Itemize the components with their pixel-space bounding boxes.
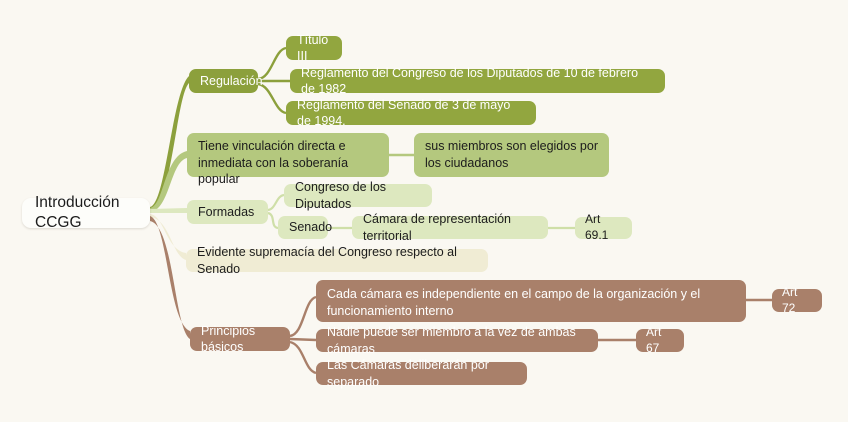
node-root-label: Introducción CCGG — [35, 193, 137, 234]
node-regulacion-label: Regulación — [200, 73, 263, 90]
node-art-69-1[interactable]: Art 69.1 — [575, 217, 632, 239]
node-camara-territorial-label: Cámara de representación territorial — [363, 211, 537, 244]
node-miembros-elegidos-label: sus miembros son elegidos por los ciudad… — [425, 138, 598, 171]
link-formadas-congreso — [268, 195, 284, 210]
node-art-67-label: Art 67 — [646, 325, 674, 357]
node-titulo-iii[interactable]: Título III — [286, 36, 342, 60]
link-root-supremacia — [150, 214, 186, 260]
node-senado[interactable]: Senado — [278, 216, 328, 239]
node-supremacia-label: Evidente supremacía del Congreso respect… — [197, 244, 477, 277]
node-vinculacion[interactable]: Tiene vinculación directa e inmediata co… — [187, 133, 389, 177]
link-root-vinculacion — [150, 151, 187, 212]
node-deliberaran-separado[interactable]: Las Cámaras deliberarán por separado — [316, 362, 527, 385]
node-nadie-miembro-ambas-label: Nadie puede ser miembro a la vez de amba… — [327, 324, 587, 357]
link-root-regulacion — [150, 76, 189, 211]
node-root[interactable]: Introducción CCGG — [22, 198, 150, 228]
mindmap-canvas: Introducción CCGG Regulación Título III … — [0, 0, 848, 422]
node-cada-camara-independiente-label: Cada cámara es independiente en el campo… — [327, 286, 735, 319]
node-regulacion[interactable]: Regulación — [189, 69, 258, 93]
node-art-72-label: Art 72 — [782, 285, 812, 317]
node-art-69-1-label: Art 69.1 — [585, 212, 622, 244]
node-formadas-label: Formadas — [198, 204, 254, 221]
node-art-72[interactable]: Art 72 — [772, 289, 822, 312]
link-root-formadas — [150, 208, 187, 213]
node-reglamento-congreso-label: Reglamento del Congreso de los Diputados… — [301, 65, 654, 98]
node-formadas[interactable]: Formadas — [187, 200, 268, 224]
node-nadie-miembro-ambas[interactable]: Nadie puede ser miembro a la vez de amba… — [316, 329, 598, 352]
node-congreso-diputados-label: Congreso de los Diputados — [295, 179, 421, 212]
node-miembros-elegidos[interactable]: sus miembros son elegidos por los ciudad… — [414, 133, 609, 177]
node-art-67[interactable]: Art 67 — [636, 329, 684, 352]
node-principios-basicos-label: Principios básicos — [201, 323, 279, 356]
link-principios-cada-camara — [290, 297, 316, 336]
node-reglamento-congreso[interactable]: Reglamento del Congreso de los Diputados… — [290, 69, 665, 93]
node-cada-camara-independiente[interactable]: Cada cámara es independiente en el campo… — [316, 280, 746, 322]
node-principios-basicos[interactable]: Principios básicos — [190, 327, 290, 351]
node-camara-territorial[interactable]: Cámara de representación territorial — [352, 216, 548, 239]
link-principios-nadie — [290, 339, 316, 340]
link-formadas-senado — [268, 213, 278, 228]
node-senado-label: Senado — [289, 219, 332, 236]
node-reglamento-senado[interactable]: Reglamento del Senado de 3 de mayo de 19… — [286, 101, 536, 125]
node-titulo-iii-label: Título III — [297, 32, 331, 65]
node-congreso-diputados[interactable]: Congreso de los Diputados — [284, 184, 432, 207]
node-reglamento-senado-label: Reglamento del Senado de 3 de mayo de 19… — [297, 97, 525, 130]
link-root-principios — [150, 216, 190, 339]
link-principios-deliberaran — [290, 342, 316, 373]
node-deliberaran-separado-label: Las Cámaras deliberarán por separado — [327, 357, 516, 390]
node-supremacia[interactable]: Evidente supremacía del Congreso respect… — [186, 249, 488, 272]
